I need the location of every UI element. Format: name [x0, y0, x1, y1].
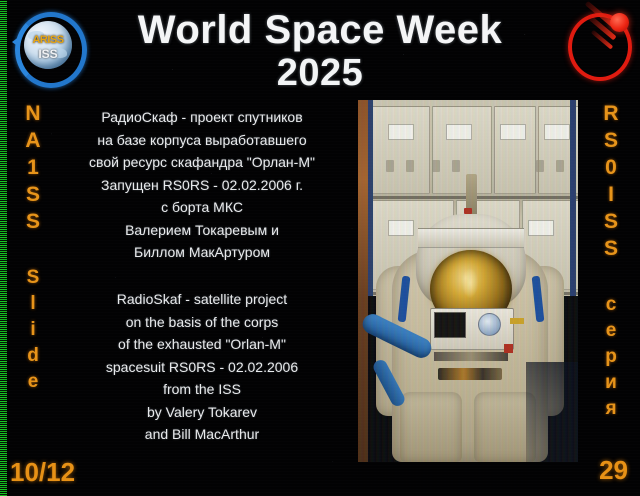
russian-text-line: РадиоСкаф - проект спутников	[52, 106, 352, 129]
english-text-line: of the exhausted "Orlan-M"	[52, 333, 352, 356]
right-word-letter: я	[594, 396, 628, 422]
russian-text-line: на базе корпуса выработавшего	[52, 129, 352, 152]
panel-label	[500, 124, 526, 140]
ariss-iss-logo: ARISS ISS	[13, 10, 83, 82]
russian-text-line: Биллом МакАртуром	[52, 241, 352, 264]
chest-connector-block	[438, 368, 502, 380]
left-callsign-letter: N	[16, 100, 50, 127]
module-orange-edge	[358, 100, 368, 462]
comet-head-icon	[610, 13, 629, 32]
right-callsign-letter: S	[594, 235, 628, 262]
russian-text-line: свой ресурс скафандра "Орлан-М"	[52, 151, 352, 174]
visor-glint	[462, 268, 478, 298]
panel-label	[446, 124, 472, 140]
english-text-line: and Bill MacArthur	[52, 423, 352, 446]
ariss-logo-text-top: ARISS	[13, 34, 83, 46]
russian-text-line: Валерием Токаревым и	[52, 219, 352, 242]
english-description-block: RadioSkaf - satellite project on the bas…	[52, 288, 352, 446]
suit-yellow-tab	[510, 318, 524, 324]
left-callsign-letter: A	[16, 127, 50, 154]
right-callsign-letter: S	[594, 208, 628, 235]
comet-logo	[565, 9, 631, 81]
left-vertical-column: N A 1 S S S l i d e	[16, 100, 50, 395]
russian-text-line: Запущен RS0RS - 02.02.2006 г.	[52, 174, 352, 197]
iss-panel	[372, 106, 430, 194]
iss-panel	[432, 106, 492, 194]
panel-knob	[556, 160, 564, 172]
right-callsign-letter: R	[594, 100, 628, 127]
panel-label	[388, 220, 414, 236]
panel-knob	[406, 160, 414, 172]
helmet-label-band	[418, 228, 524, 248]
left-word-letter: S	[16, 265, 50, 291]
title-line-1: World Space Week	[95, 8, 545, 52]
iss-panel	[494, 106, 536, 194]
panel-label	[388, 124, 414, 140]
panel-knob	[536, 160, 544, 172]
suit-left-leg	[400, 392, 462, 462]
panel-label	[544, 124, 570, 140]
russian-description-block: РадиоСкаф - проект спутников на базе кор…	[52, 106, 352, 264]
english-text-line: from the ISS	[52, 378, 352, 401]
left-word-letter: l	[16, 291, 50, 317]
slide-index: 10/12	[10, 457, 75, 488]
english-text-line: on the basis of the corps	[52, 311, 352, 334]
left-callsign-letter: S	[16, 181, 50, 208]
left-column-gap	[16, 235, 50, 265]
right-word-letter: и	[594, 370, 628, 396]
left-callsign-letter: 1	[16, 154, 50, 181]
left-word-letter: d	[16, 343, 50, 369]
panel-label	[528, 220, 554, 236]
panel-knob	[432, 160, 440, 172]
sstv-slide-frame: ARISS ISS World Space Week 2025 N A 1 S …	[0, 0, 640, 496]
suit-red-tab	[504, 344, 513, 353]
panel-knob	[452, 160, 460, 172]
right-callsign-letter: S	[594, 127, 628, 154]
ariss-logo-text-bottom: ISS	[13, 47, 83, 61]
right-word-letter: е	[594, 318, 628, 344]
right-column-gap	[594, 262, 628, 292]
english-text-line: RadioSkaf - satellite project	[52, 288, 352, 311]
right-word-letter: р	[594, 344, 628, 370]
wall-blue-strip	[570, 100, 576, 296]
sstv-sync-bar	[0, 0, 7, 496]
title-line-2: 2025	[95, 52, 545, 94]
panel-knob	[386, 160, 394, 172]
right-callsign-letter: 0	[594, 154, 628, 181]
page-title: World Space Week 2025	[95, 8, 545, 94]
photo-content	[358, 100, 578, 462]
left-callsign-letter: S	[16, 208, 50, 235]
chest-hardware-strip	[434, 352, 508, 361]
chest-dial	[478, 313, 501, 336]
left-word-letter: e	[16, 369, 50, 395]
right-word-letter: с	[594, 292, 628, 318]
english-text-line: spacesuit RS0RS - 02.02.2006	[52, 356, 352, 379]
russian-text-line: с борта МКС	[52, 196, 352, 219]
wall-blue-strip	[368, 100, 373, 296]
photo-dark-corner	[526, 362, 578, 462]
left-word-letter: i	[16, 317, 50, 343]
english-text-line: by Valery Tokarev	[52, 401, 352, 424]
chest-display	[434, 312, 466, 338]
orlan-m-spacesuit-photo	[358, 100, 578, 462]
right-callsign-letter: I	[594, 181, 628, 208]
right-vertical-column: R S 0 I S S с е р и я	[594, 100, 628, 422]
frame-number: 29	[599, 455, 628, 486]
